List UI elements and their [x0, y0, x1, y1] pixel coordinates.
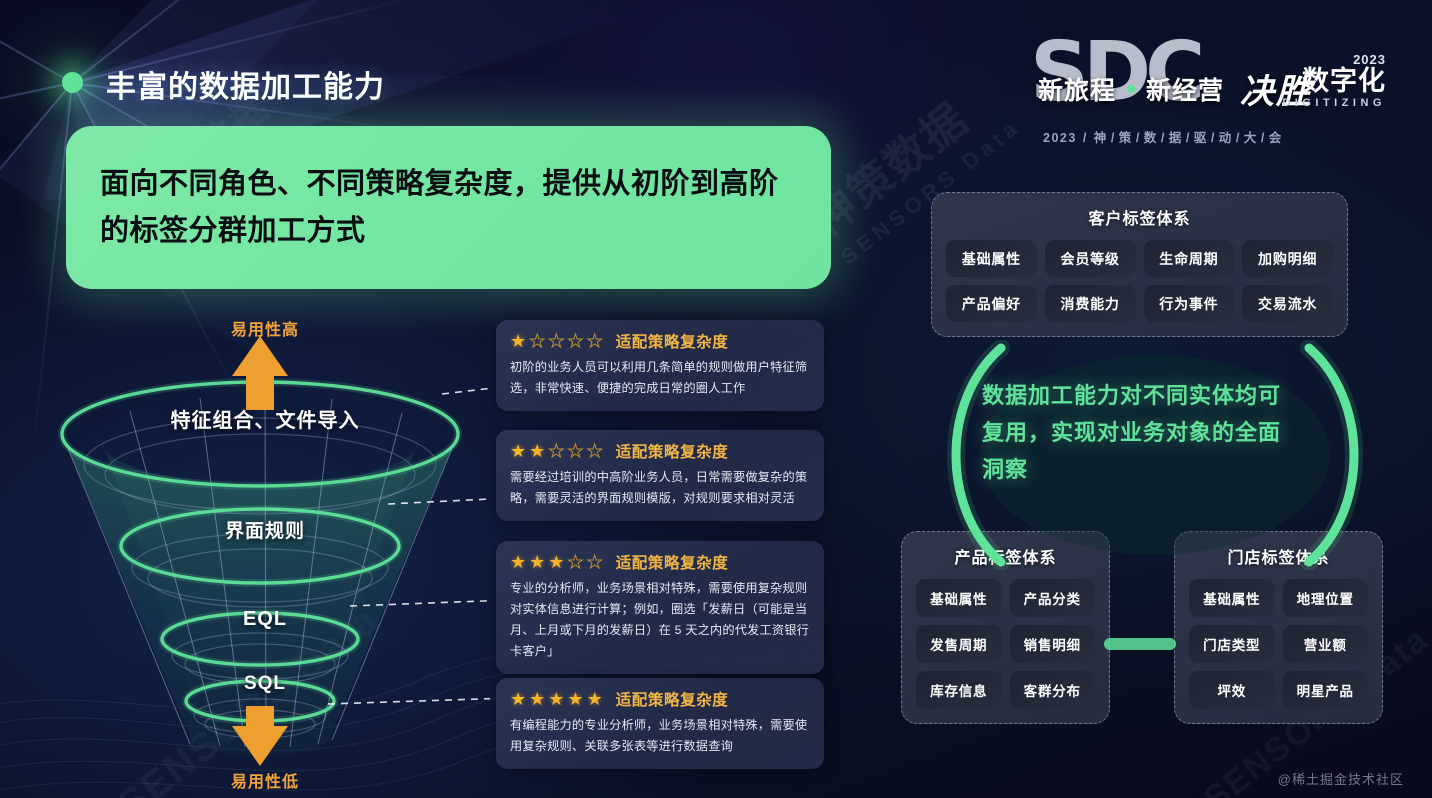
complexity-card-header: ★★★★★ 适配策略复杂度 [510, 688, 810, 710]
tag-chip[interactable]: 客群分布 [1010, 671, 1096, 709]
star-icon: ★ [567, 690, 583, 708]
tag-chip[interactable]: 基础属性 [946, 240, 1037, 277]
chip-grid: 基础属性会员等级生命周期加购明细产品偏好消费能力行为事件交易流水 [946, 240, 1333, 322]
tag-chip[interactable]: 基础属性 [916, 579, 1002, 617]
star-icon: ★ [510, 442, 526, 460]
chip-grid: 基础属性地理位置门店类型营业额坪效明星产品 [1189, 579, 1368, 709]
star-rating: ★★★★★ [510, 332, 603, 350]
tag-chip[interactable]: 库存信息 [916, 671, 1002, 709]
complexity-card[interactable]: ★★★★★ 适配策略复杂度 专业的分析师，业务场景相对特殊，需要使用复杂规则对实… [496, 541, 824, 674]
star-icon: ★ [510, 553, 526, 571]
star-icon: ★ [529, 442, 545, 460]
tag-chip[interactable]: 门店类型 [1189, 625, 1275, 663]
tag-chip[interactable]: 坪效 [1189, 671, 1275, 709]
logo-tagline-left: 新旅程 [1038, 71, 1116, 107]
complexity-card-body: 初阶的业务人员可以利用几条简单的规则做用户特征筛选，非常快速、便捷的完成日常的圈… [510, 357, 810, 399]
star-icon: ★ [587, 690, 603, 708]
complexity-card-title: 适配策略复杂度 [616, 688, 729, 710]
star-icon: ★ [529, 553, 545, 571]
conference-logo: SDC 新旅程 新经营 决胜 2023 数字化 DIGITIZING 2023/… [1016, 34, 1386, 142]
tag-chip[interactable]: 地理位置 [1283, 579, 1369, 617]
title-glow-dot [62, 72, 83, 93]
chip-grid: 基础属性产品分类发售周期销售明细库存信息客群分布 [916, 579, 1095, 709]
funnel-diagram: 易用性高 易用性低 [40, 306, 490, 798]
logo-subtitle: 2023/神/策/数/据/驱/动/大/会 [1040, 127, 1286, 146]
star-icon: ★ [510, 690, 526, 708]
star-icon: ★ [548, 690, 564, 708]
star-rating: ★★★★★ [510, 553, 603, 571]
funnel-stage-label: SQL [40, 673, 490, 695]
star-icon: ★ [529, 332, 545, 350]
tag-chip[interactable]: 交易流水 [1242, 285, 1333, 322]
tag-chip[interactable]: 产品分类 [1010, 579, 1096, 617]
complexity-card-title: 适配策略复杂度 [616, 551, 729, 573]
funnel-svg [40, 306, 490, 798]
slide-canvas: 神策数据 SENSORS Data SENSORS Data SENSORS D… [0, 0, 1432, 798]
panel-customer-tags: 客户标签体系 基础属性会员等级生命周期加购明细产品偏好消费能力行为事件交易流水 [931, 192, 1348, 337]
tag-chip[interactable]: 生命周期 [1144, 240, 1235, 277]
complexity-card-body: 有编程能力的专业分析师，业务场景相对特殊，需要使用复杂规则、关联多张表等进行数据… [510, 715, 810, 757]
center-statement-text: 数据加工能力对不同实体均可复用，实现对业务对象的全面洞察 [982, 378, 1302, 489]
logo-tagline-right: 新经营 [1146, 71, 1224, 107]
funnel-stage-label: 特征组合、文件导入 [40, 404, 490, 433]
star-icon: ★ [548, 442, 564, 460]
page-header: 丰富的数据加工能力 [106, 62, 385, 106]
logo-digitizing-en: DIGITIZING [1282, 97, 1386, 109]
complexity-card-title: 适配策略复杂度 [616, 440, 729, 462]
funnel-stage-label: EQL [40, 608, 490, 631]
star-icon: ★ [587, 553, 603, 571]
credit-watermark: @稀土掘金技术社区 [1278, 769, 1404, 788]
tag-chip[interactable]: 消费能力 [1045, 285, 1136, 322]
complexity-card[interactable]: ★★★★★ 适配策略复杂度 初阶的业务人员可以利用几条简单的规则做用户特征筛选，… [496, 320, 824, 411]
star-icon: ★ [548, 553, 564, 571]
tag-chip[interactable]: 销售明细 [1010, 625, 1096, 663]
star-icon: ★ [510, 332, 526, 350]
logo-year: 2023 [1282, 52, 1386, 67]
hero-statement-text: 面向不同角色、不同策略复杂度，提供从初阶到高阶的标签分群加工方式 [100, 161, 797, 255]
star-icon: ★ [567, 332, 583, 350]
complexity-card-body: 需要经过培训的中高阶业务人员，日常需要做复杂的策略，需要灵活的界面规则模版，对规… [510, 467, 810, 509]
complexity-card-body: 专业的分析师，业务场景相对特殊，需要使用复杂规则对实体信息进行计算；例如，圈选「… [510, 578, 810, 662]
star-icon: ★ [567, 442, 583, 460]
complexity-card-header: ★★★★★ 适配策略复杂度 [510, 330, 810, 352]
tag-chip[interactable]: 发售周期 [916, 625, 1002, 663]
star-icon: ★ [548, 332, 564, 350]
complexity-card[interactable]: ★★★★★ 适配策略复杂度 有编程能力的专业分析师，业务场景相对特殊，需要使用复… [496, 678, 824, 769]
logo-tagline: 新旅程 新经营 决胜 [1038, 64, 1312, 113]
tag-chip[interactable]: 行为事件 [1144, 285, 1235, 322]
page-title: 丰富的数据加工能力 [106, 62, 385, 106]
tag-chip[interactable]: 基础属性 [1189, 579, 1275, 617]
tag-chip[interactable]: 明星产品 [1283, 671, 1369, 709]
star-rating: ★★★★★ [510, 690, 603, 708]
complexity-card[interactable]: ★★★★★ 适配策略复杂度 需要经过培训的中高阶业务人员，日常需要做复杂的策略，… [496, 430, 824, 521]
star-rating: ★★★★★ [510, 442, 603, 460]
tag-chip[interactable]: 营业额 [1283, 625, 1369, 663]
complexity-card-header: ★★★★★ 适配策略复杂度 [510, 551, 810, 573]
logo-digitizing-block: 2023 数字化 DIGITIZING [1282, 52, 1386, 109]
funnel-stage-label: 界面规则 [40, 516, 490, 543]
star-icon: ★ [529, 690, 545, 708]
star-icon: ★ [567, 553, 583, 571]
complexity-card-title: 适配策略复杂度 [616, 330, 729, 352]
tag-chip[interactable]: 加购明细 [1242, 240, 1333, 277]
tag-chip[interactable]: 会员等级 [1045, 240, 1136, 277]
panel-connector [1100, 615, 1190, 675]
star-icon: ★ [587, 442, 603, 460]
tag-chip[interactable]: 产品偏好 [946, 285, 1037, 322]
star-icon: ★ [587, 332, 603, 350]
complexity-card-header: ★★★★★ 适配策略复杂度 [510, 440, 810, 462]
logo-digitizing-cn: 数字化 [1282, 67, 1386, 97]
hero-statement-card: 面向不同角色、不同策略复杂度，提供从初阶到高阶的标签分群加工方式 [66, 126, 831, 289]
panel-title: 客户标签体系 [946, 205, 1333, 229]
logo-separator-dot [1127, 85, 1135, 93]
